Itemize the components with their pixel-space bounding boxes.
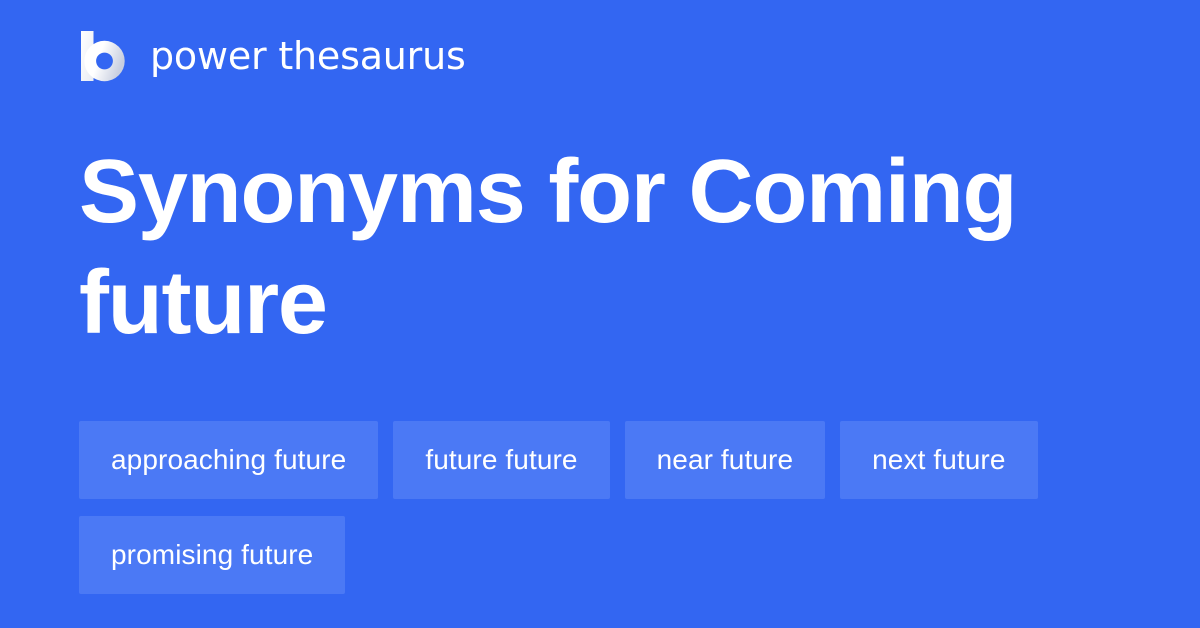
synonym-chip[interactable]: next future (840, 421, 1037, 499)
synonym-chip-list: approaching future future future near fu… (79, 421, 1079, 594)
synonym-chip[interactable]: promising future (79, 516, 345, 594)
brand-name: power thesaurus (150, 37, 466, 75)
synonym-chip[interactable]: approaching future (79, 421, 378, 499)
page-title: Synonyms for Coming future (79, 137, 1039, 359)
brand-header[interactable]: power thesaurus (79, 28, 466, 84)
synonym-chip[interactable]: near future (625, 421, 826, 499)
social-share-card: power thesaurus Synonyms for Coming futu… (0, 0, 1200, 628)
power-thesaurus-b-logo-icon (79, 30, 127, 82)
synonym-chip[interactable]: future future (393, 421, 609, 499)
